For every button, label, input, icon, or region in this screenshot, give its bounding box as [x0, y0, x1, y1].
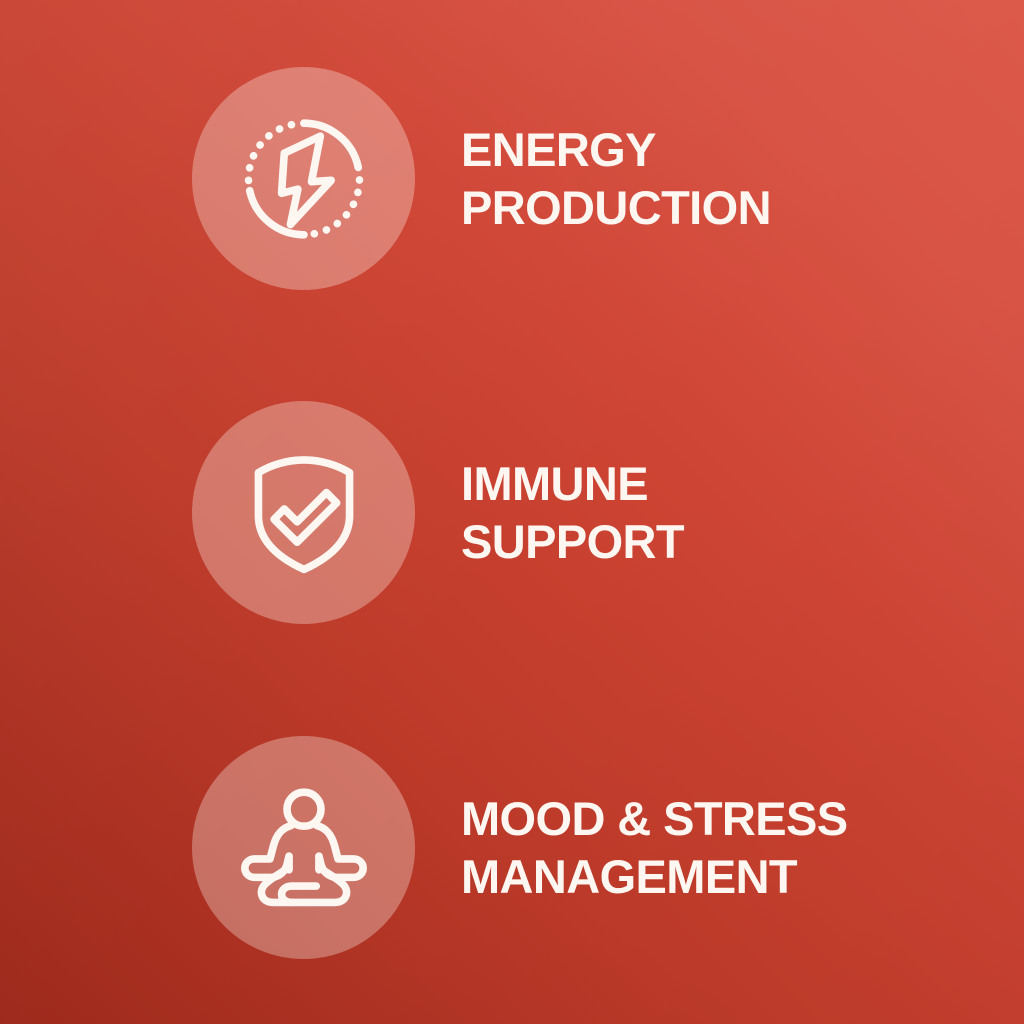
benefit-item-energy-production: ENERGY PRODUCTION: [0, 67, 771, 290]
icon-badge-energy-production: [192, 67, 415, 290]
benefit-item-mood-stress-management: MOOD & STRESS MANAGEMENT: [0, 736, 848, 959]
benefits-list: ENERGY PRODUCTION IMMUNE SUPPORT: [0, 0, 1024, 1024]
lightning-bolt-in-dotted-circle-icon: [236, 111, 372, 247]
shield-check-icon: [236, 445, 372, 581]
icon-badge-mood-stress-management: [192, 736, 415, 959]
meditation-lotus-pose-icon: [236, 780, 372, 916]
benefit-label-mood-stress-management: MOOD & STRESS MANAGEMENT: [461, 790, 848, 905]
benefit-label-energy-production: ENERGY PRODUCTION: [461, 121, 771, 236]
benefit-label-immune-support: IMMUNE SUPPORT: [461, 455, 684, 570]
benefit-item-immune-support: IMMUNE SUPPORT: [0, 401, 684, 624]
icon-badge-immune-support: [192, 401, 415, 624]
